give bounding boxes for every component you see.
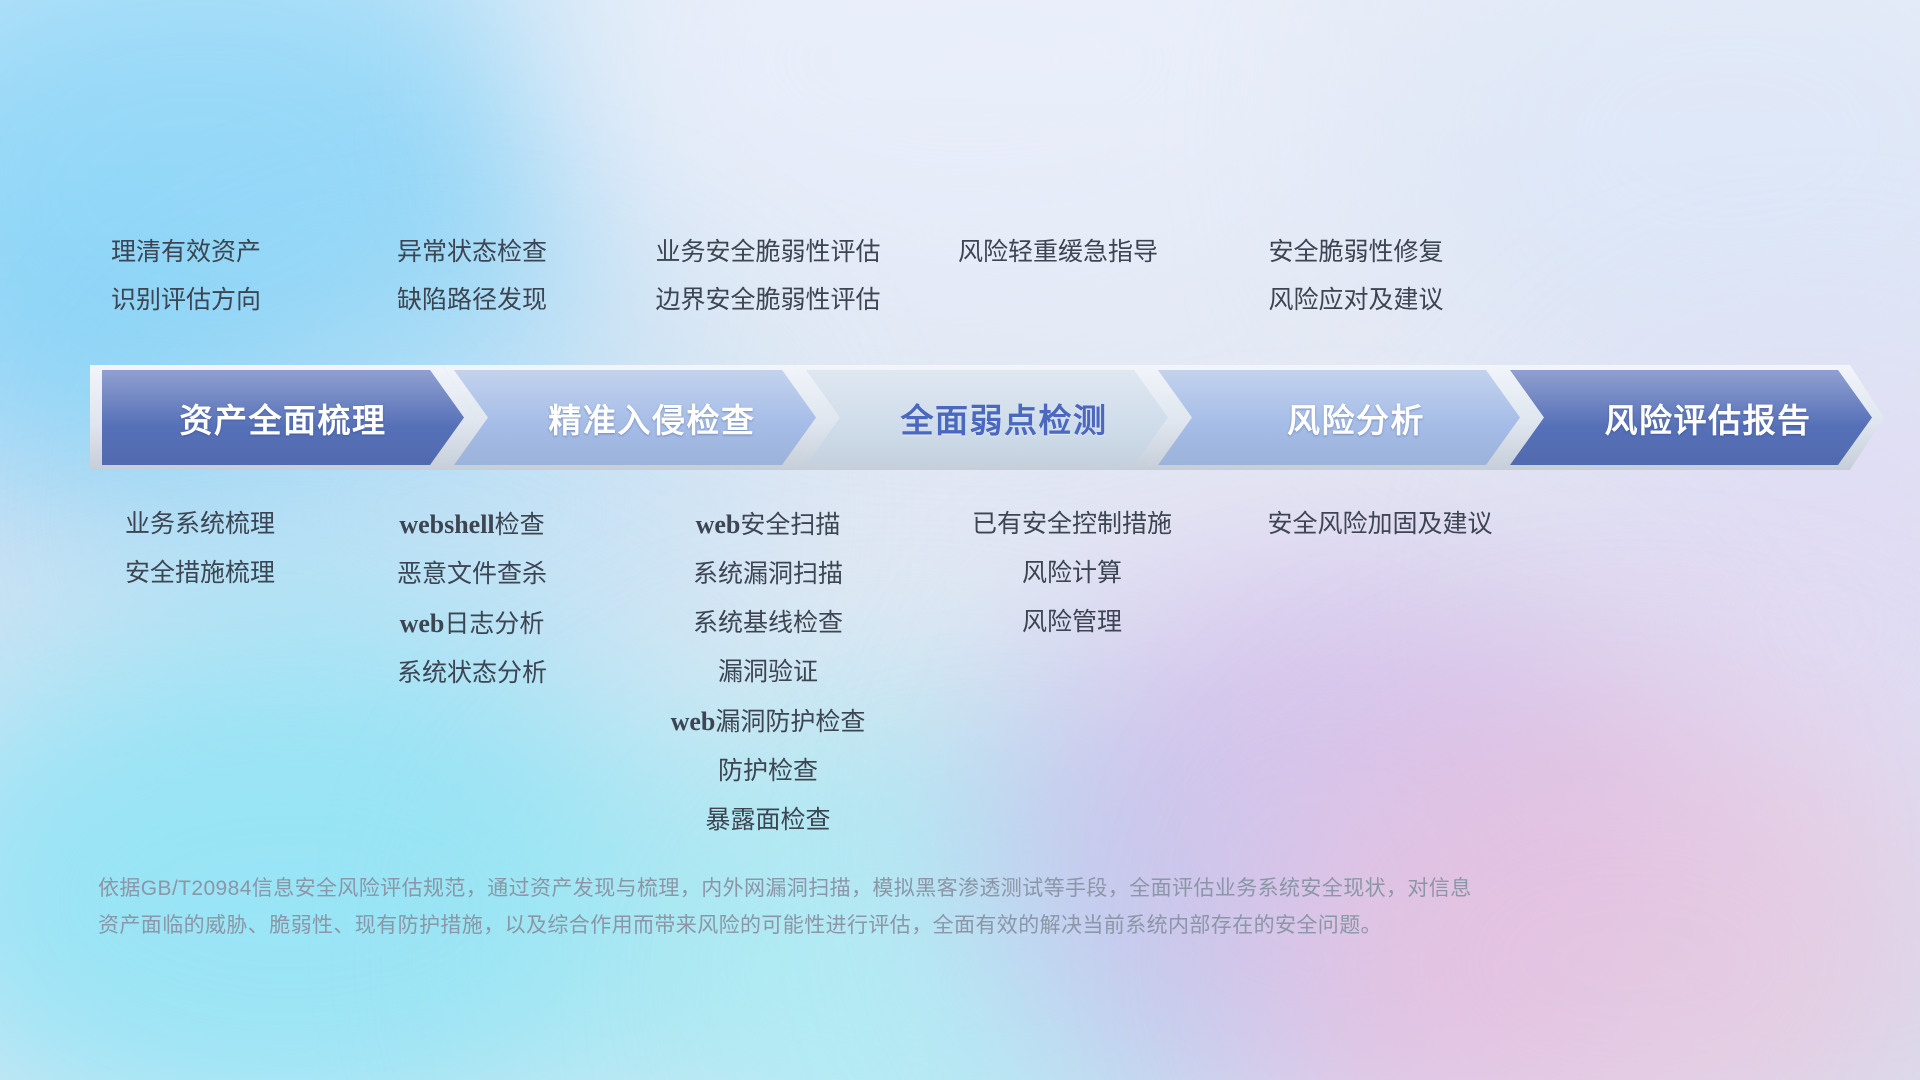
chevron-band: 资产全面梳理精准入侵检查全面弱点检测风险分析风险评估报告	[0, 365, 1920, 470]
stage-label-weakness: 全面弱点检测	[901, 394, 1108, 442]
footer-line-1: 依据GB/T20984信息安全风险评估规范，通过资产发现与梳理，内外网漏洞扫描，…	[98, 870, 1658, 907]
process-stage-intrusion[interactable]: 精准入侵检查	[442, 365, 828, 470]
process-stage-weakness[interactable]: 全面弱点检测	[794, 365, 1180, 470]
stage-detail-list-report: 安全风险加固及建议	[1150, 500, 1610, 549]
detail-item-latin: webshell	[399, 510, 494, 539]
stage-label-intrusion: 精准入侵检查	[549, 394, 756, 442]
stage-label-risk-analysis: 风险分析	[1287, 394, 1425, 442]
top-labels-report: 安全脆弱性修复风险应对及建议	[1136, 228, 1576, 324]
top-label-item: 安全脆弱性修复	[1136, 228, 1576, 276]
stage-detail-item: web漏洞防护检查	[538, 697, 998, 747]
top-label-row: 理清有效资产识别评估方向异常状态检查缺陷路径发现业务安全脆弱性评估边界安全脆弱性…	[0, 228, 1920, 328]
footer-line-2: 资产面临的威胁、脆弱性、现有防护措施，以及综合作用而带来风险的可能性进行评估，全…	[98, 907, 1658, 944]
stage-detail-item: 漏洞验证	[538, 648, 998, 697]
footer-description: 依据GB/T20984信息安全风险评估规范，通过资产发现与梳理，内外网漏洞扫描，…	[98, 870, 1658, 944]
process-stage-risk-analysis[interactable]: 风险分析	[1146, 365, 1532, 470]
process-stage-report[interactable]: 风险评估报告	[1498, 365, 1884, 470]
top-label-item: 风险应对及建议	[1136, 276, 1576, 324]
detail-item-latin: web	[400, 609, 445, 638]
detail-item-cn: 日志分析	[444, 610, 544, 638]
detail-item-cn: 漏洞防护检查	[715, 708, 865, 736]
detail-item-latin: web	[696, 510, 741, 539]
detail-item-cn: 安全扫描	[740, 511, 840, 539]
stage-detail-item: 暴露面检查	[538, 796, 998, 845]
stage-detail-item: 风险计算	[842, 549, 1302, 598]
stage-label-report: 风险评估报告	[1605, 394, 1812, 442]
detail-item-latin: web	[671, 707, 716, 736]
stage-detail-item: 风险管理	[842, 598, 1302, 647]
bottom-list-row: 业务系统梳理安全措施梳理webshell检查恶意文件查杀web日志分析系统状态分…	[0, 500, 1920, 830]
stage-detail-item: 安全风险加固及建议	[1150, 500, 1610, 549]
process-stage-asset[interactable]: 资产全面梳理	[90, 365, 476, 470]
stage-detail-item: 防护检查	[538, 747, 998, 796]
stage-label-asset: 资产全面梳理	[180, 394, 387, 442]
process-diagram: 理清有效资产识别评估方向异常状态检查缺陷路径发现业务安全脆弱性评估边界安全脆弱性…	[0, 0, 1920, 1080]
top-label-item: 边界安全脆弱性评估	[548, 276, 988, 324]
